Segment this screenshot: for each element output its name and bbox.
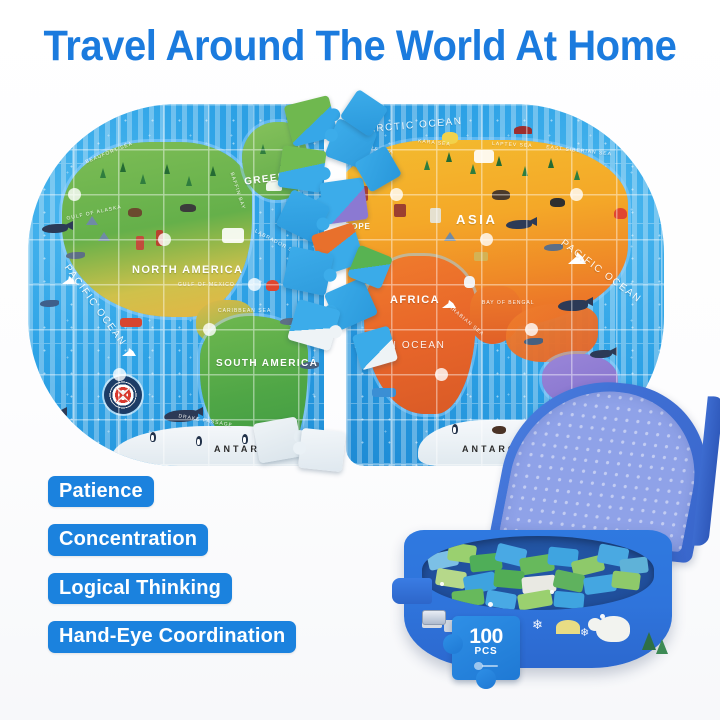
puzzle-knob — [248, 278, 261, 291]
suitcase-interior — [422, 536, 654, 610]
feature-badge-row: Concentration — [48, 524, 296, 572]
tree-icon — [656, 639, 668, 654]
feature-badge-patience[interactable]: Patience — [48, 476, 154, 507]
polar-bear-icon — [596, 616, 630, 642]
tag-nub — [476, 669, 496, 689]
puzzle-knob — [435, 368, 448, 381]
loose-piece[interactable] — [298, 428, 346, 472]
feature-badge-hand-eye-coordination[interactable]: Hand-Eye Coordination — [48, 621, 296, 652]
loose-piece[interactable] — [253, 416, 303, 463]
piece-count-unit: PCS — [452, 646, 520, 657]
puzzle-half-left: NORTH AMERICA GREENLAND SOUTH AMERICA AN… — [28, 104, 324, 466]
piece-count-tag: 100 PCS — [452, 616, 520, 680]
snowflake-icon: ❄ — [532, 618, 543, 631]
feature-badge-logical-thinking[interactable]: Logical Thinking — [48, 573, 232, 604]
feature-badge-list: Patience Concentration Logical Thinking … — [48, 476, 296, 670]
puzzle-storage-suitcase: ❄ ❄ 100 PCS — [404, 382, 714, 682]
puzzle-knob — [390, 188, 403, 201]
feature-badge-row: Hand-Eye Coordination — [48, 621, 296, 669]
feature-badge-concentration[interactable]: Concentration — [48, 524, 208, 555]
tree-icon — [642, 632, 656, 650]
snow-dot — [550, 590, 554, 594]
puzzle-knob — [203, 323, 216, 336]
puzzle-knob — [570, 188, 583, 201]
puzzle-knob — [480, 233, 493, 246]
feature-badge-row: Patience — [48, 476, 296, 524]
puzzle-cut-lines-left — [28, 104, 324, 466]
feature-badge-row: Logical Thinking — [48, 573, 296, 621]
snow-dot — [440, 582, 444, 586]
product-marketing-image: Travel Around The World At Home — [0, 0, 720, 720]
snow-dot — [488, 602, 493, 607]
igloo-icon — [556, 620, 580, 634]
suitcase-lid-inner-pattern — [499, 382, 710, 552]
puzzle-knob — [158, 233, 171, 246]
puzzle-knob — [525, 323, 538, 336]
puzzle-knob — [113, 368, 126, 381]
puzzle-piece-icon — [474, 662, 498, 670]
page-title: Travel Around The World At Home — [25, 22, 695, 71]
puzzle-knob — [68, 188, 81, 201]
loose-piece[interactable] — [282, 246, 334, 296]
suitcase-clasp[interactable] — [422, 610, 446, 625]
suitcase-handle[interactable] — [392, 578, 432, 604]
snowflake-icon: ❄ — [580, 628, 589, 639]
